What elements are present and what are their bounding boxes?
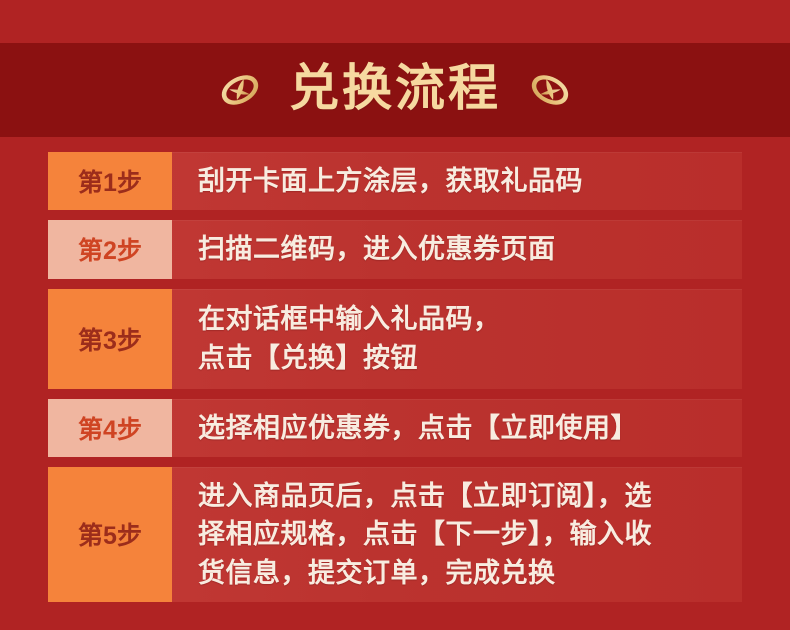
step-row: 第1步 刮开卡面上方涂层，获取礼品码 [48,152,742,210]
step-line: 择相应规格，点击【下一步】，输入收 [198,515,728,553]
step-row: 第5步 进入商品页后，点击【立即订阅】，选 择相应规格，点击【下一步】，输入收 … [48,467,742,602]
step-line: 点击【兑换】按钮 [198,339,728,377]
step-badge: 第5步 [48,467,172,602]
exchange-process-page: 兑换流程 第1步 刮开卡面上方涂层，获取礼品码 第2步 扫描二维码，进入优惠券页… [0,0,790,630]
leaf-ornament-icon [527,67,573,113]
step-badge: 第3步 [48,289,172,389]
step-badge: 第1步 [48,152,172,210]
leaf-ornament-icon [217,67,263,113]
step-row: 第2步 扫描二维码，进入优惠券页面 [48,220,742,278]
step-badge: 第4步 [48,399,172,457]
page-title: 兑换流程 [289,63,501,117]
step-row: 第3步 在对话框中输入礼品码， 点击【兑换】按钮 [48,289,742,389]
step-description: 扫描二维码，进入优惠券页面 [172,220,742,278]
step-line: 货信息，提交订单，完成兑换 [198,554,728,592]
step-line: 扫描二维码，进入优惠券页面 [198,230,728,268]
step-description: 刮开卡面上方涂层，获取礼品码 [172,152,742,210]
step-line: 选择相应优惠券，点击【立即使用】 [198,409,728,447]
header-banner: 兑换流程 [0,43,790,137]
step-row: 第4步 选择相应优惠券，点击【立即使用】 [48,399,742,457]
step-line: 在对话框中输入礼品码， [198,300,728,338]
step-line: 刮开卡面上方涂层，获取礼品码 [198,162,728,200]
steps-list: 第1步 刮开卡面上方涂层，获取礼品码 第2步 扫描二维码，进入优惠券页面 第3步… [48,152,742,612]
step-line: 进入商品页后，点击【立即订阅】，选 [198,477,728,515]
step-description: 在对话框中输入礼品码， 点击【兑换】按钮 [172,289,742,389]
step-description: 选择相应优惠券，点击【立即使用】 [172,399,742,457]
step-badge: 第2步 [48,220,172,278]
step-description: 进入商品页后，点击【立即订阅】，选 择相应规格，点击【下一步】，输入收 货信息，… [172,467,742,602]
